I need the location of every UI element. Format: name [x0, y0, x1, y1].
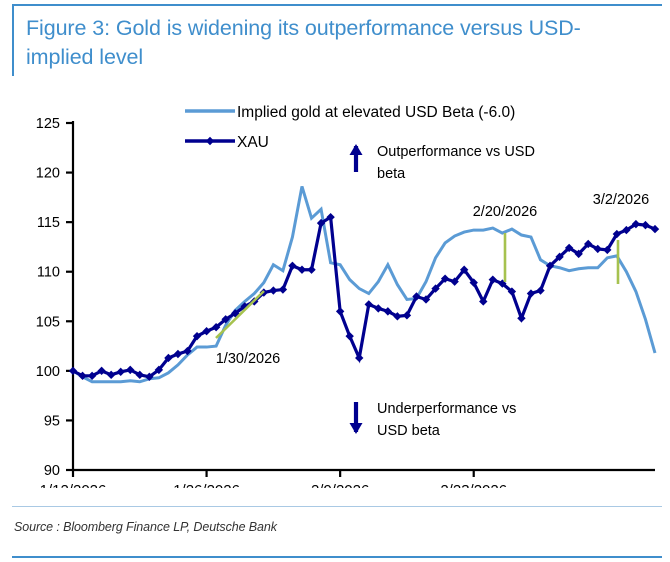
x-tick-label: 1/26/2026: [173, 482, 240, 488]
series-line: [73, 217, 655, 377]
data-point-marker: [117, 368, 125, 376]
y-axis-ticks: 9095100105110115120125: [36, 116, 73, 479]
callout-date-label-2: 2/20/2026: [473, 204, 538, 220]
y-tick-label: 95: [44, 413, 60, 429]
callout-date-label-1: 1/30/2026: [216, 351, 281, 367]
callout-date-label-3: 3/2/2026: [593, 192, 649, 208]
data-point-marker: [279, 285, 287, 293]
outperformance-arrow-icon: [350, 144, 363, 172]
bottom-border-rule: [12, 556, 662, 558]
callout-leader-line-1: [216, 291, 264, 338]
source-note: Source : Bloomberg Finance LP, Deutsche …: [14, 520, 277, 534]
series-implied-gold: [73, 186, 655, 381]
data-point-marker: [536, 286, 544, 294]
underperformance-label-line1: Underperformance vs: [377, 401, 516, 417]
y-tick-label: 120: [36, 166, 60, 182]
y-tick-label: 105: [36, 314, 60, 330]
arrow-head: [350, 423, 363, 434]
figure-container: Figure 3: Gold is widening its outperfor…: [0, 0, 670, 562]
legend-label-implied-gold: Implied gold at elevated USD Beta (-6.0): [237, 104, 515, 121]
series-line: [73, 186, 655, 381]
data-point-marker: [307, 266, 315, 274]
axes: [73, 121, 655, 470]
y-tick-label: 125: [36, 116, 60, 132]
source-divider: [12, 506, 662, 507]
data-point-marker: [517, 314, 525, 322]
x-tick-label: 2/9/2026: [311, 482, 369, 488]
x-tick-label: 2/23/2026: [440, 482, 507, 488]
chart-plot: 90951001051101151201251/12/20261/26/2026…: [0, 88, 670, 488]
legend-label-xau: XAU: [237, 134, 269, 151]
series-xau: [69, 213, 659, 381]
y-tick-label: 115: [37, 215, 60, 231]
x-tick-label: 1/12/2026: [40, 482, 107, 488]
data-point-marker: [269, 286, 277, 294]
top-border-rule: [12, 4, 662, 6]
underperformance-label-line2: USD beta: [377, 423, 441, 439]
arrow-head: [350, 144, 363, 155]
legend-marker-xau: [206, 137, 214, 145]
data-point-marker: [336, 307, 344, 315]
title-accent-bar: [12, 4, 14, 76]
figure-title: Figure 3: Gold is widening its outperfor…: [26, 14, 626, 72]
outperformance-label-line1: Outperformance vs USD: [377, 144, 535, 160]
x-axis-ticks: 1/12/20261/26/20262/9/20262/23/2026: [40, 470, 507, 488]
data-point-marker: [527, 289, 535, 297]
y-tick-label: 110: [37, 265, 60, 281]
underperformance-arrow-icon: [350, 402, 363, 434]
y-tick-label: 100: [36, 364, 60, 380]
outperformance-label-line2: beta: [377, 166, 406, 182]
y-tick-label: 90: [44, 463, 60, 479]
